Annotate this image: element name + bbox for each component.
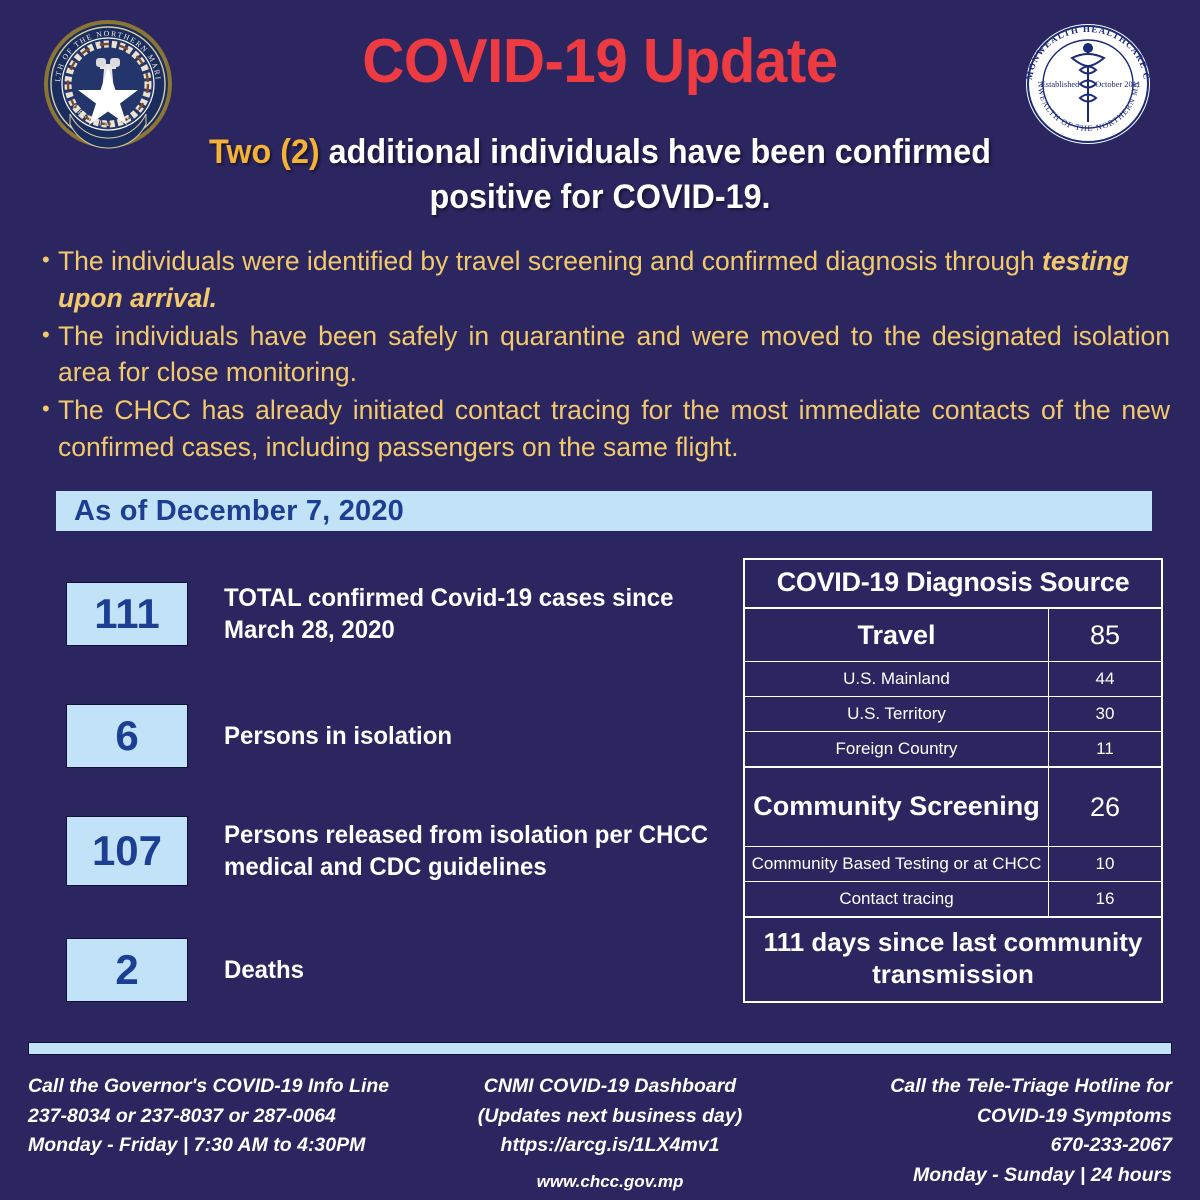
table-cell-name: Travel	[745, 609, 1049, 661]
stat-row: 111 TOTAL confirmed Covid-19 cases since…	[66, 582, 744, 646]
footer-line: CNMI COVID-19 Dashboard	[430, 1072, 790, 1102]
footer-line: 237-8034 or 237-8037 or 287-0064	[28, 1102, 418, 1132]
stat-label: Deaths	[224, 954, 723, 986]
footer-column-governor-line: Call the Governor's COVID-19 Info Line 2…	[28, 1072, 418, 1161]
stat-row: 6 Persons in isolation	[66, 704, 744, 768]
table-cell-value: 30	[1049, 697, 1161, 731]
date-banner-text: As of December 7, 2020	[56, 495, 404, 528]
table-row: Community Based Testing or at CHCC 10	[745, 847, 1161, 882]
stat-row: 2 Deaths	[66, 938, 744, 1002]
stat-value-box: 2	[66, 938, 188, 1002]
table-row: Contact tracing 16	[745, 882, 1161, 916]
stat-label: Persons in isolation	[224, 720, 723, 752]
table-footnote: 111 days since last community transmissi…	[745, 916, 1161, 1001]
footer-line: Monday - Friday | 7:30 AM to 4:30PM	[28, 1131, 418, 1161]
table-cell-name: U.S. Territory	[745, 697, 1049, 731]
stat-value-box: 6	[66, 704, 188, 768]
table-cell-value: 10	[1049, 847, 1161, 881]
footer-line: Monday - Sunday | 24 hours	[802, 1161, 1172, 1191]
list-item: • The CHCC has already initiated contact…	[42, 392, 1170, 466]
dashboard-link[interactable]: https://arcg.is/1LX4mv1	[430, 1131, 790, 1161]
table-cell-name: Foreign Country	[745, 732, 1049, 766]
bullet-list: • The individuals were identified by tra…	[42, 243, 1170, 467]
table-row: Community Screening 26	[745, 768, 1161, 847]
bullet-dot-icon: •	[42, 392, 58, 466]
bullet-text: The individuals have been safely in quar…	[58, 318, 1170, 392]
stat-value-box: 111	[66, 582, 188, 646]
bullet-dot-icon: •	[42, 243, 58, 317]
footer-line: Call the Tele-Triage Hotline for	[802, 1072, 1172, 1102]
table-row: Foreign Country 11	[745, 732, 1161, 768]
list-item: • The individuals have been safely in qu…	[42, 318, 1170, 392]
table-cell-value: 44	[1049, 662, 1161, 696]
footer: Call the Governor's COVID-19 Info Line 2…	[28, 1072, 1172, 1195]
table-cell-name: Community Based Testing or at CHCC	[745, 847, 1049, 881]
subtitle-highlight: Two (2)	[209, 133, 320, 171]
footer-line: Call the Governor's COVID-19 Info Line	[28, 1072, 418, 1102]
footer-line: (Updates next business day)	[430, 1102, 790, 1132]
website-link[interactable]: www.chcc.gov.mp	[430, 1169, 790, 1195]
table-row: U.S. Territory 30	[745, 697, 1161, 732]
page-title: COVID-19 Update	[36, 26, 1164, 97]
stat-label: Persons released from isolation per CHCC…	[224, 819, 723, 883]
date-banner: As of December 7, 2020	[56, 491, 1152, 531]
table-cell-name: Contact tracing	[745, 882, 1049, 916]
table-cell-name: Community Screening	[745, 768, 1049, 846]
subtitle-rest: additional individuals have been confirm…	[320, 133, 991, 216]
stat-value-box: 107	[66, 816, 188, 886]
footer-line: 670-233-2067	[802, 1131, 1172, 1161]
table-row: Travel 85	[745, 609, 1161, 662]
page-subtitle: Two (2) additional individuals have been…	[192, 130, 1009, 220]
bullet-text: The individuals were identified by trave…	[58, 243, 1170, 317]
bullet-dot-icon: •	[42, 318, 58, 392]
table-row: U.S. Mainland 44	[745, 662, 1161, 697]
footer-line: COVID-19 Symptoms	[802, 1102, 1172, 1132]
table-title: COVID-19 Diagnosis Source	[745, 560, 1161, 609]
table-cell-name: U.S. Mainland	[745, 662, 1049, 696]
stat-row: 107 Persons released from isolation per …	[66, 816, 744, 886]
footer-column-dashboard: CNMI COVID-19 Dashboard (Updates next bu…	[430, 1072, 790, 1195]
diagnosis-source-table: COVID-19 Diagnosis Source Travel 85 U.S.…	[743, 558, 1163, 1003]
infographic-page: COMMONWEALTH OF THE NORTHERN MARIANA ISL…	[0, 0, 1200, 1200]
bullet-text-before: The individuals were identified by trave…	[58, 246, 1042, 276]
table-cell-value: 11	[1049, 732, 1161, 766]
footer-divider	[28, 1042, 1172, 1055]
table-cell-value: 16	[1049, 882, 1161, 916]
table-cell-value: 85	[1049, 609, 1161, 661]
footer-column-tele-triage: Call the Tele-Triage Hotline for COVID-1…	[802, 1072, 1172, 1191]
table-cell-value: 26	[1049, 768, 1161, 846]
stat-label: TOTAL confirmed Covid-19 cases since Mar…	[224, 582, 723, 646]
bullet-text: The CHCC has already initiated contact t…	[58, 392, 1170, 466]
list-item: • The individuals were identified by tra…	[42, 243, 1170, 317]
